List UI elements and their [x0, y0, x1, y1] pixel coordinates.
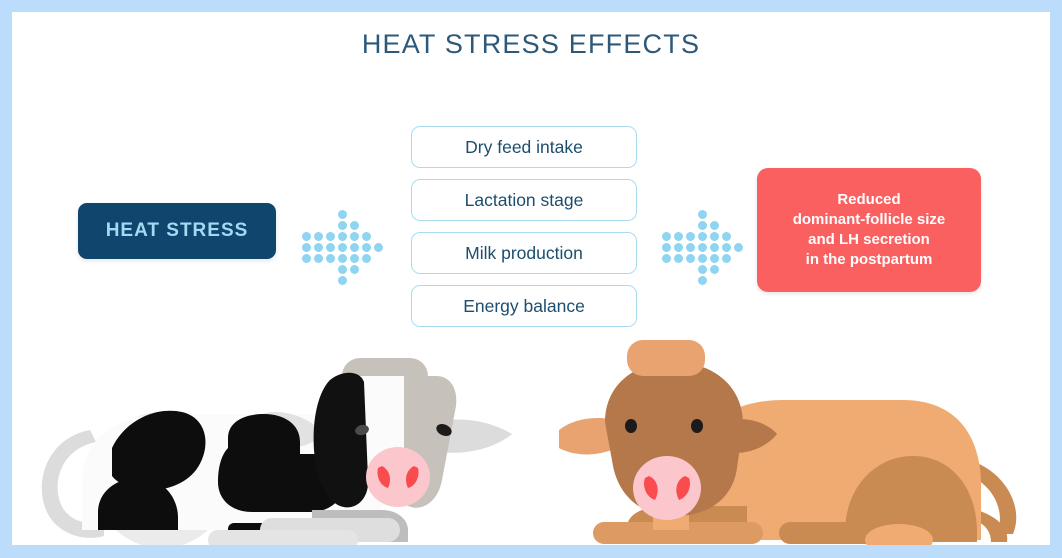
arrow-dot [302, 254, 311, 263]
arrow-dot [662, 232, 671, 241]
arrow-dot [710, 265, 719, 274]
outcome-line: and LH secretion [808, 230, 930, 250]
arrow-dot [338, 210, 347, 219]
arrow-dot [674, 254, 683, 263]
arrow-dot [362, 254, 371, 263]
arrow-dot [326, 254, 335, 263]
arrow-dot [362, 232, 371, 241]
factor-item-label: Energy balance [463, 296, 585, 317]
arrow-dot [326, 232, 335, 241]
arrow-dot [698, 276, 707, 285]
outcome-panel: Reduced dominant-follicle size and LH se… [757, 168, 981, 292]
dotted-arrow-right-icon-1 [302, 210, 386, 286]
outcome-line: Reduced [837, 190, 900, 210]
arrow-dot [338, 276, 347, 285]
brown-eye-left [625, 419, 637, 433]
arrow-dot [302, 243, 311, 252]
arrow-dot [698, 254, 707, 263]
holstein-head [314, 358, 512, 508]
factor-list: Dry feed intake Lactation stage Milk pro… [411, 126, 637, 338]
dotted-arrow-right-icon-2 [662, 210, 746, 286]
arrow-dot [314, 254, 323, 263]
factor-item-milk-production: Milk production [411, 232, 637, 274]
brown-muzzle [633, 456, 701, 520]
arrow-dot [662, 254, 671, 263]
arrow-dot [350, 221, 359, 230]
arrow-dot [350, 243, 359, 252]
arrow-dot [338, 254, 347, 263]
heat-stress-badge: HEAT STRESS [78, 203, 276, 259]
factor-item-label: Milk production [465, 243, 583, 264]
arrow-dot [722, 243, 731, 252]
arrow-dot [698, 221, 707, 230]
arrow-dot [302, 232, 311, 241]
heat-stress-badge-label: HEAT STRESS [106, 220, 249, 242]
arrow-dot [338, 232, 347, 241]
arrow-dot [698, 232, 707, 241]
factor-item-energy-balance: Energy balance [411, 285, 637, 327]
arrow-dot [338, 243, 347, 252]
arrow-dot [338, 265, 347, 274]
holstein-hoof-shade [208, 530, 358, 545]
arrow-dot [710, 221, 719, 230]
arrow-dot [710, 232, 719, 241]
arrow-dot [374, 243, 383, 252]
arrow-dot [350, 232, 359, 241]
arrow-dot [674, 243, 683, 252]
brown-cow-illustration [557, 330, 1050, 545]
outcome-line: in the postpartum [806, 250, 933, 270]
holstein-muzzle [366, 447, 430, 507]
arrow-dot [350, 254, 359, 263]
brown-eye-right [691, 419, 703, 433]
arrow-dot [686, 254, 695, 263]
outcome-line: dominant-follicle size [793, 210, 946, 230]
factor-item-dry-feed-intake: Dry feed intake [411, 126, 637, 168]
arrow-dot [722, 232, 731, 241]
arrow-dot [662, 243, 671, 252]
arrow-dot [722, 254, 731, 263]
arrow-dot [698, 243, 707, 252]
factor-item-lactation-stage: Lactation stage [411, 179, 637, 221]
holstein-cow-illustration [12, 330, 532, 545]
arrow-dot [314, 243, 323, 252]
arrow-dot [326, 243, 335, 252]
brown-poll [627, 340, 705, 376]
arrow-dot [698, 265, 707, 274]
factor-item-label: Lactation stage [465, 190, 584, 211]
factor-item-label: Dry feed intake [465, 137, 583, 158]
arrow-dot [710, 254, 719, 263]
arrow-dot [314, 232, 323, 241]
infographic-canvas: HEAT STRESS EFFECTS HEAT STRESS Dry feed… [12, 12, 1050, 545]
arrow-dot [698, 210, 707, 219]
arrow-dot [686, 232, 695, 241]
arrow-dot [350, 265, 359, 274]
arrow-dot [710, 243, 719, 252]
arrow-dot [686, 243, 695, 252]
arrow-dot [362, 243, 371, 252]
arrow-dot [674, 232, 683, 241]
page-title: HEAT STRESS EFFECTS [12, 29, 1050, 60]
arrow-dot [734, 243, 743, 252]
arrow-dot [338, 221, 347, 230]
